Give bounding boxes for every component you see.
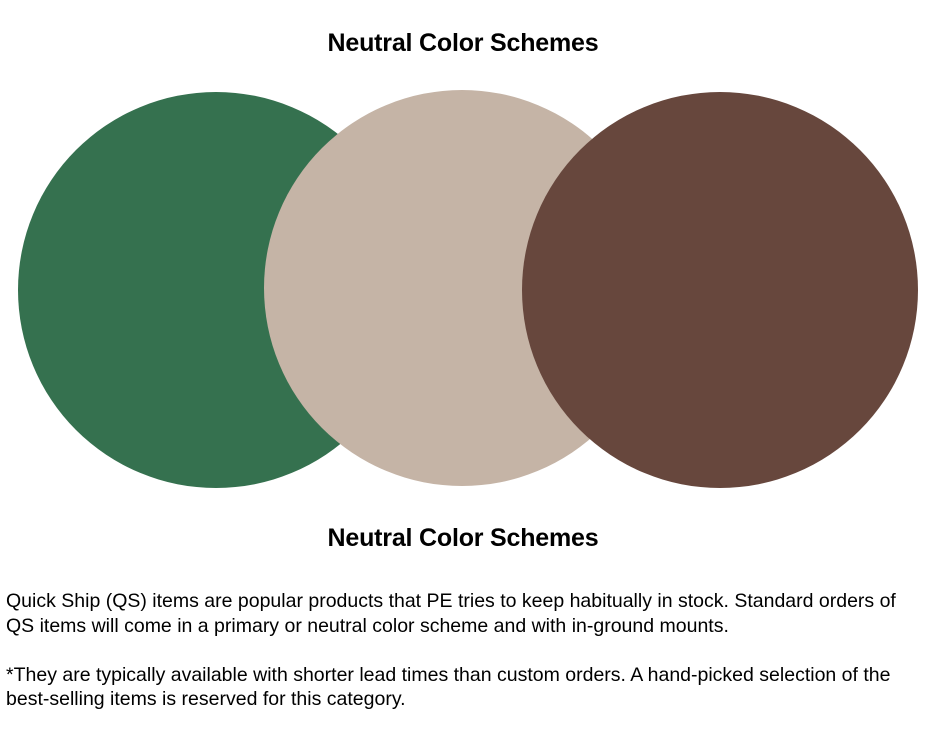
color-swatch-brown [522, 92, 918, 488]
page-root: Neutral Color Schemes Neutral Color Sche… [0, 0, 926, 752]
swatch-group-caption: Neutral Color Schemes [0, 524, 926, 553]
body-copy: Quick Ship (QS) items are popular produc… [6, 589, 906, 712]
color-swatch-group [0, 0, 926, 510]
paragraph-lead-times-note: *They are typically available with short… [6, 663, 906, 712]
paragraph-quick-ship: Quick Ship (QS) items are popular produc… [6, 589, 906, 638]
